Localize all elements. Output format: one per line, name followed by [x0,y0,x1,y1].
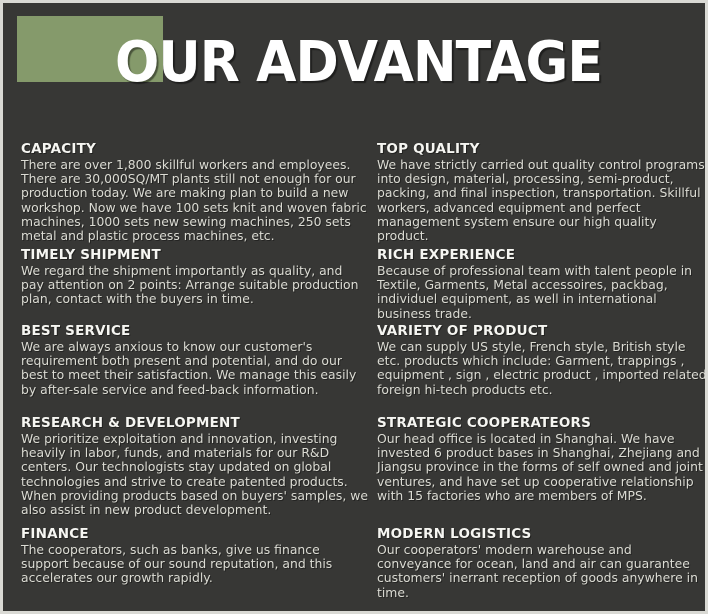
section-body: Our head office is located in Shanghai. … [377,432,707,503]
section-heading: VARIETY OF PRODUCT [377,323,707,339]
section-timely-shipment: TIMELY SHIPMENT We regard the shipment i… [21,247,369,307]
section-body: We regard the shipment importantly as qu… [21,264,369,307]
section-heading: TIMELY SHIPMENT [21,247,369,263]
poster-header: OUR ADVANTAGE [3,3,708,128]
section-body: We can supply US style, French style, Br… [377,340,707,397]
page-title: OUR ADVANTAGE [115,33,602,93]
section-heading: CAPACITY [21,141,369,157]
section-body: We prioritize exploitation and innovatio… [21,432,369,517]
section-rich-experience: RICH EXPERIENCE Because of professional … [377,247,707,321]
advantage-poster: OUR ADVANTAGE CAPACITY There are over 1,… [0,0,708,614]
section-heading: TOP QUALITY [377,141,707,157]
section-variety-of-product: VARIETY OF PRODUCT We can supply US styl… [377,323,707,397]
section-body: The cooperators, such as banks, give us … [21,543,369,586]
section-best-service: BEST SERVICE We are always anxious to kn… [21,323,369,397]
section-research-development: RESEARCH & DEVELOPMENT We prioritize exp… [21,415,369,517]
section-body: Our cooperators' modern warehouse and co… [377,543,707,600]
section-heading: RESEARCH & DEVELOPMENT [21,415,369,431]
section-body: We have strictly carried out quality con… [377,158,707,243]
section-finance: FINANCE The cooperators, such as banks, … [21,526,369,586]
section-body: There are over 1,800 skillful workers an… [21,158,369,243]
section-body: Because of professional team with talent… [377,264,707,321]
section-capacity: CAPACITY There are over 1,800 skillful w… [21,141,369,243]
section-heading: MODERN LOGISTICS [377,526,707,542]
section-body: We are always anxious to know our custom… [21,340,369,397]
section-heading: BEST SERVICE [21,323,369,339]
section-strategic-cooperateors: STRATEGIC COOPERATEORS Our head office i… [377,415,707,503]
section-heading: FINANCE [21,526,369,542]
section-heading: STRATEGIC COOPERATEORS [377,415,707,431]
section-top-quality: TOP QUALITY We have strictly carried out… [377,141,707,243]
section-modern-logistics: MODERN LOGISTICS Our cooperators' modern… [377,526,707,600]
section-heading: RICH EXPERIENCE [377,247,707,263]
